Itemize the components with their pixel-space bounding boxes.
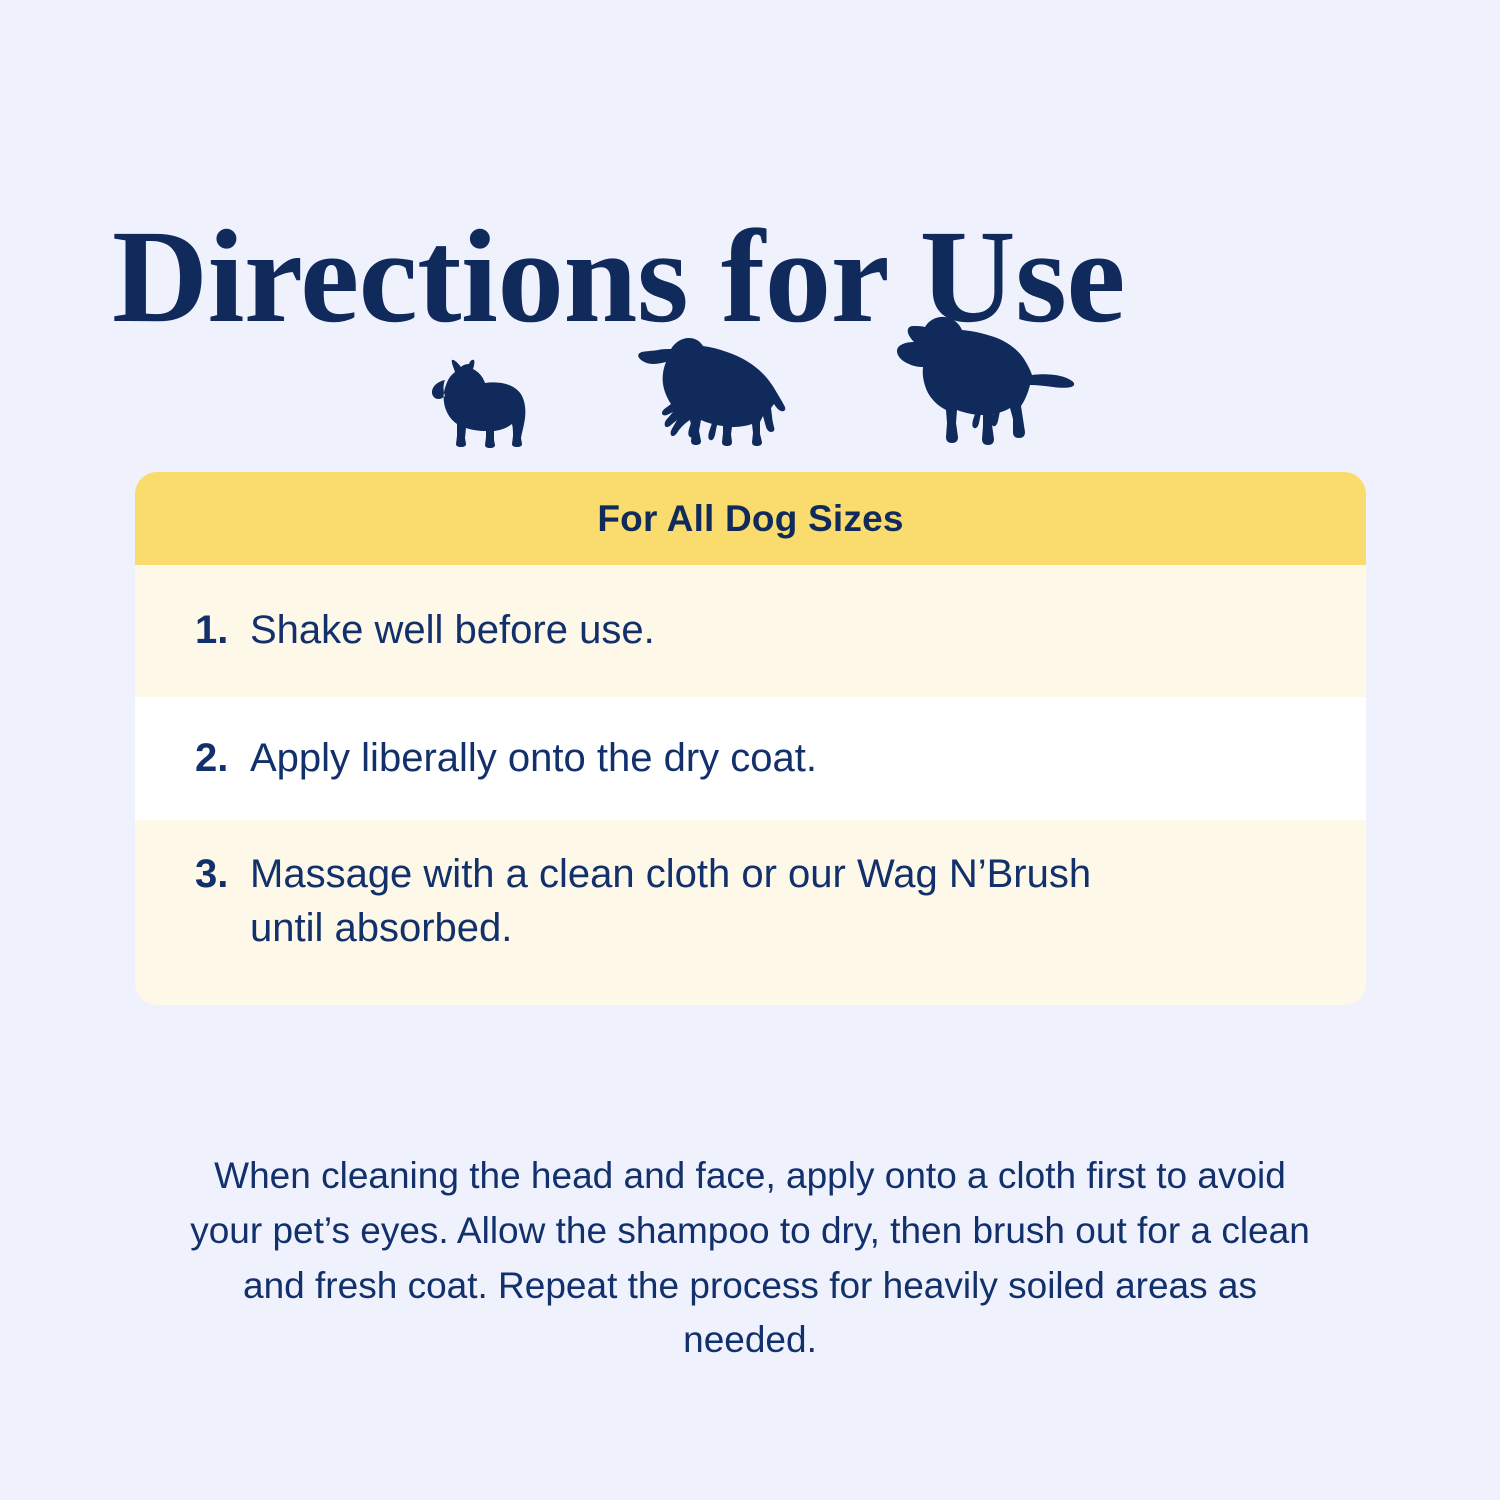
step-number: 1. — [195, 604, 250, 658]
step-text: Apply liberally onto the dry coat. — [250, 732, 1366, 786]
steps-list: 1. Shake well before use. 2. Apply liber… — [135, 565, 1366, 1005]
step-text-line-2: until absorbed. — [250, 902, 1306, 956]
large-dog-silhouette-icon — [879, 315, 1075, 450]
step-text: Massage with a clean cloth or our Wag N’… — [250, 848, 1366, 955]
dog-size-illustrations — [0, 300, 1500, 450]
footnote-paragraph: When cleaning the head and face, apply o… — [190, 1149, 1310, 1368]
small-dog-silhouette-icon — [425, 358, 535, 450]
list-item: 3. Massage with a clean cloth or our Wag… — [135, 820, 1366, 1005]
directions-card: For All Dog Sizes 1. Shake well before u… — [135, 472, 1366, 1005]
card-header-title: For All Dog Sizes — [135, 472, 1366, 565]
step-text: Shake well before use. — [250, 604, 1366, 658]
directions-for-use-page: Directions for Use For All Dog Sizes 1. … — [0, 0, 1500, 1500]
list-item: 1. Shake well before use. — [135, 565, 1366, 697]
medium-dog-silhouette-icon — [627, 336, 787, 450]
step-number: 3. — [195, 848, 250, 902]
step-number: 2. — [195, 732, 250, 786]
step-text-line-1: Massage with a clean cloth or our Wag N’… — [250, 852, 1091, 896]
list-item: 2. Apply liberally onto the dry coat. — [135, 697, 1366, 820]
